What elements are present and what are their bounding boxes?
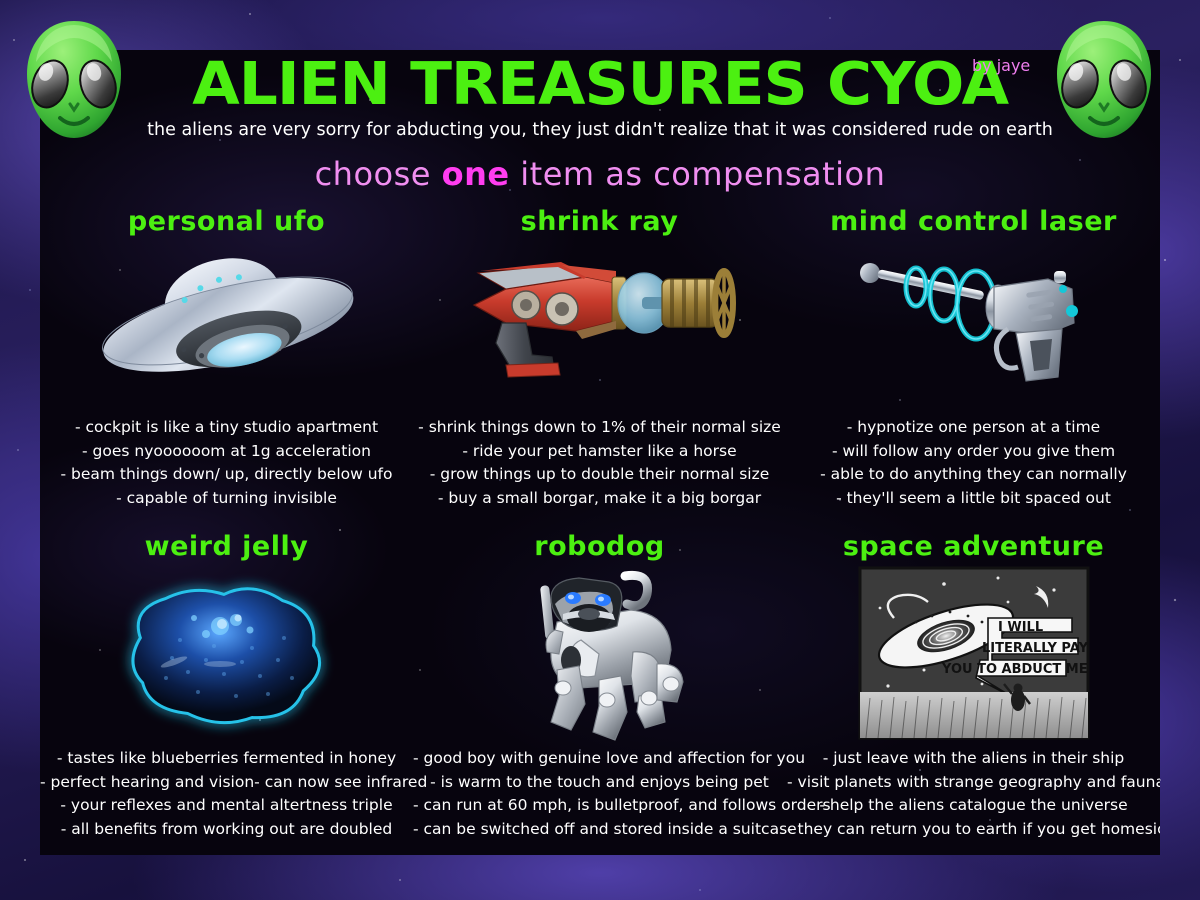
- item-title: space adventure: [787, 530, 1160, 564]
- bullet: - perfect hearing and vision- can now se…: [40, 771, 413, 795]
- item-description: - tastes like blueberries fermented in h…: [40, 747, 413, 842]
- robot-dog-icon: [485, 564, 715, 749]
- item-card-shrink-ray[interactable]: shrink ray: [413, 205, 786, 511]
- item-title: personal ufo: [40, 205, 413, 239]
- bullet: - help the aliens catalogue the universe: [787, 794, 1160, 818]
- bullet: - is warm to the touch and enjoys being …: [413, 771, 786, 795]
- item-description: - good boy with genuine love and affecti…: [413, 747, 786, 842]
- ufo-sketch-icon: I WILL LITERALLY PAY YOU TO ABDUCT ME: [858, 566, 1090, 744]
- alien-head-icon-right: [1052, 18, 1156, 142]
- bullet: - shrink things down to 1% of their norm…: [413, 416, 786, 440]
- item-card-personal-ufo[interactable]: personal ufo: [40, 205, 413, 511]
- bullet: - grow things up to double their normal …: [413, 463, 786, 487]
- bullet: - they'll seem a little bit spaced out: [787, 487, 1160, 511]
- item-description: - hypnotize one person at a time - will …: [787, 416, 1160, 511]
- choose-emphasis: one: [442, 155, 510, 193]
- bullet: - tastes like blueberries fermented in h…: [40, 747, 413, 771]
- item-description: - just leave with the aliens in their sh…: [787, 747, 1160, 842]
- item-art-space-adventure: I WILL LITERALLY PAY YOU TO ABDUCT ME: [787, 564, 1160, 749]
- byline-credit: by jaye: [972, 56, 1030, 75]
- item-description: - shrink things down to 1% of their norm…: [413, 416, 786, 511]
- bullet: - can run at 60 mph, is bulletproof, and…: [413, 794, 786, 818]
- flying-saucer-icon: [82, 239, 372, 399]
- choose-prefix: choose: [315, 155, 442, 193]
- page-title: ALIEN TREASURES CYOA: [192, 50, 1008, 113]
- item-art-weird-jelly: [40, 564, 413, 749]
- item-title: mind control laser: [787, 205, 1160, 239]
- bullet: - ride your pet hamster like a horse: [413, 440, 786, 464]
- glowing-blue-blob-icon: [102, 568, 352, 743]
- sketch-speech-line: LITERALLY PAY: [982, 641, 1089, 656]
- sketch-speech-line: I WILL: [998, 620, 1043, 635]
- bullet: - hypnotize one person at a time: [787, 416, 1160, 440]
- item-title: robodog: [413, 530, 786, 564]
- main-panel: ALIEN TREASURES CYOA by jaye the aliens …: [40, 50, 1160, 855]
- item-card-space-adventure[interactable]: space adventure: [787, 530, 1160, 842]
- bullet: - they can return you to earth if you ge…: [787, 818, 1160, 842]
- bullet: - beam things down/ up, directly below u…: [40, 463, 413, 487]
- bullet: - just leave with the aliens in their sh…: [787, 747, 1160, 771]
- item-card-mind-control-laser[interactable]: mind control laser: [787, 205, 1160, 511]
- item-card-robodog[interactable]: robodog: [413, 530, 786, 842]
- bullet: - cockpit is like a tiny studio apartmen…: [40, 416, 413, 440]
- retro-ray-gun-icon: [460, 239, 740, 389]
- bullet: - will follow any order you give them: [787, 440, 1160, 464]
- item-card-weird-jelly[interactable]: weird jelly: [40, 530, 413, 842]
- alien-head-icon-left: [22, 18, 126, 142]
- item-description: - cockpit is like a tiny studio apartmen…: [40, 416, 413, 511]
- bullet: - capable of turning invisible: [40, 487, 413, 511]
- poster-root: ALIEN TREASURES CYOA by jaye the aliens …: [0, 0, 1200, 900]
- choose-instruction: choose one item as compensation: [40, 155, 1160, 193]
- item-title: weird jelly: [40, 530, 413, 564]
- bullet: - can be switched off and stored inside …: [413, 818, 786, 842]
- chrome-laser-pistol-icon: [844, 239, 1104, 389]
- sketch-speech-line: YOU TO ABDUCT ME: [941, 662, 1088, 677]
- item-title: shrink ray: [413, 205, 786, 239]
- bullet: - able to do anything they can normally: [787, 463, 1160, 487]
- choose-suffix: item as compensation: [510, 155, 886, 193]
- item-art-personal-ufo: [40, 239, 413, 414]
- bullet: - visit planets with strange geography a…: [787, 771, 1160, 795]
- bullet: - all benefits from working out are doub…: [40, 818, 413, 842]
- bullet: - your reflexes and mental altertness tr…: [40, 794, 413, 818]
- item-art-shrink-ray: [413, 239, 786, 414]
- bullet: - good boy with genuine love and affecti…: [413, 747, 786, 771]
- subtitle-text: the aliens are very sorry for abducting …: [40, 120, 1160, 140]
- item-art-mind-control-laser: [787, 239, 1160, 414]
- bullet: - buy a small borgar, make it a big borg…: [413, 487, 786, 511]
- item-art-robodog: [413, 564, 786, 749]
- header: ALIEN TREASURES CYOA by jaye: [40, 50, 1160, 113]
- bullet: - goes nyoooooom at 1g acceleration: [40, 440, 413, 464]
